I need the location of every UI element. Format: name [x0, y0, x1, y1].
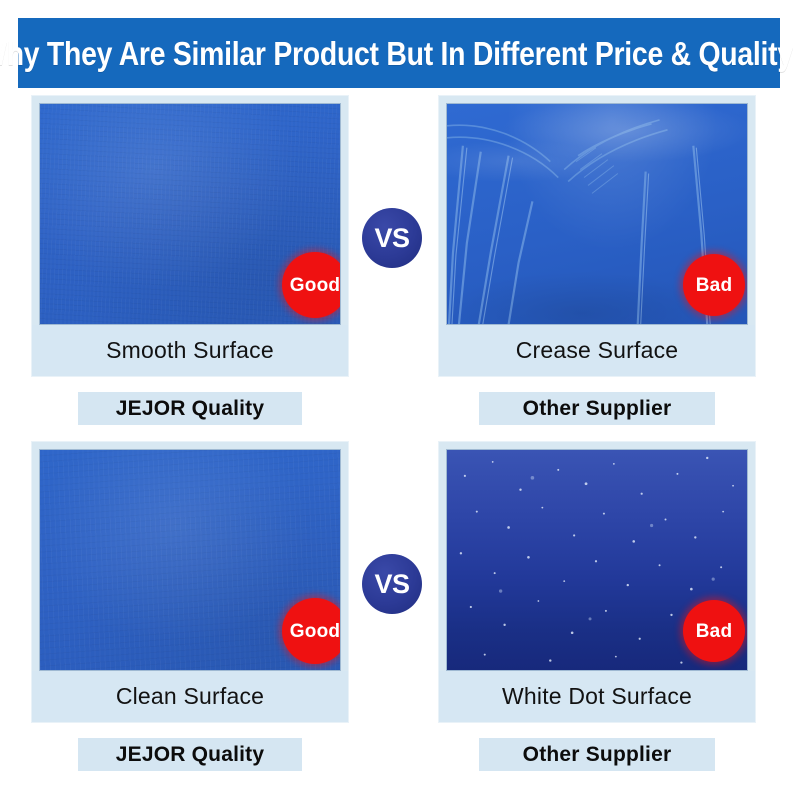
photo-caption-bar: Crease Surface	[439, 325, 755, 376]
comparison-grid: Good Smooth Surface JEJOR Quality VS	[0, 96, 800, 788]
product-photo-clean-surface: Good	[39, 449, 341, 671]
verdict-badge-bad: Bad	[683, 254, 745, 316]
vs-label: VS	[374, 571, 409, 598]
verdict-label: Good	[290, 622, 340, 641]
supplier-label: JEJOR Quality	[116, 397, 264, 421]
supplier-badge-jejor: JEJOR Quality	[78, 738, 302, 771]
verdict-label: Bad	[696, 622, 733, 641]
verdict-badge-good: Good	[282, 252, 341, 318]
comparison-cell-good: Good Clean Surface JEJOR Quality	[32, 442, 348, 722]
vs-badge: VS	[362, 554, 422, 614]
photo-frame: Bad Crease Surface	[439, 96, 755, 376]
supplier-label: Other Supplier	[523, 397, 672, 421]
photo-caption-bar: White Dot Surface	[439, 671, 755, 722]
verdict-badge-good: Good	[282, 598, 341, 664]
product-photo-smooth-surface: Good	[39, 103, 341, 325]
vs-badge: VS	[362, 208, 422, 268]
photo-caption: White Dot Surface	[502, 683, 692, 710]
photo-frame: Good Clean Surface	[32, 442, 348, 722]
comparison-cell-bad: Bad Crease Surface Other Supplier	[439, 96, 755, 376]
supplier-label: Other Supplier	[523, 743, 672, 767]
photo-caption: Clean Surface	[116, 683, 264, 710]
product-photo-white-dot-surface: Bad	[446, 449, 748, 671]
photo-caption: Smooth Surface	[106, 337, 274, 364]
photo-caption: Crease Surface	[516, 337, 679, 364]
verdict-label: Good	[290, 276, 340, 295]
photo-frame: Bad White Dot Surface	[439, 442, 755, 722]
comparison-cell-bad: Bad White Dot Surface Other Supplier	[439, 442, 755, 722]
photo-caption-bar: Smooth Surface	[32, 325, 348, 376]
comparison-row: Good Smooth Surface JEJOR Quality VS	[0, 96, 800, 442]
photo-frame: Good Smooth Surface	[32, 96, 348, 376]
supplier-badge-other: Other Supplier	[479, 392, 715, 425]
product-photo-crease-surface: Bad	[446, 103, 748, 325]
header-banner: Why They Are Similar Product But In Diff…	[18, 18, 780, 88]
supplier-badge-jejor: JEJOR Quality	[78, 392, 302, 425]
verdict-badge-bad: Bad	[683, 600, 745, 662]
photo-caption-bar: Clean Surface	[32, 671, 348, 722]
verdict-label: Bad	[696, 276, 733, 295]
comparison-cell-good: Good Smooth Surface JEJOR Quality	[32, 96, 348, 376]
comparison-row: Good Clean Surface JEJOR Quality VS	[0, 442, 800, 788]
supplier-label: JEJOR Quality	[116, 743, 264, 767]
supplier-badge-other: Other Supplier	[479, 738, 715, 771]
page-title: Why They Are Similar Product But In Diff…	[0, 37, 800, 70]
vs-label: VS	[374, 225, 409, 252]
